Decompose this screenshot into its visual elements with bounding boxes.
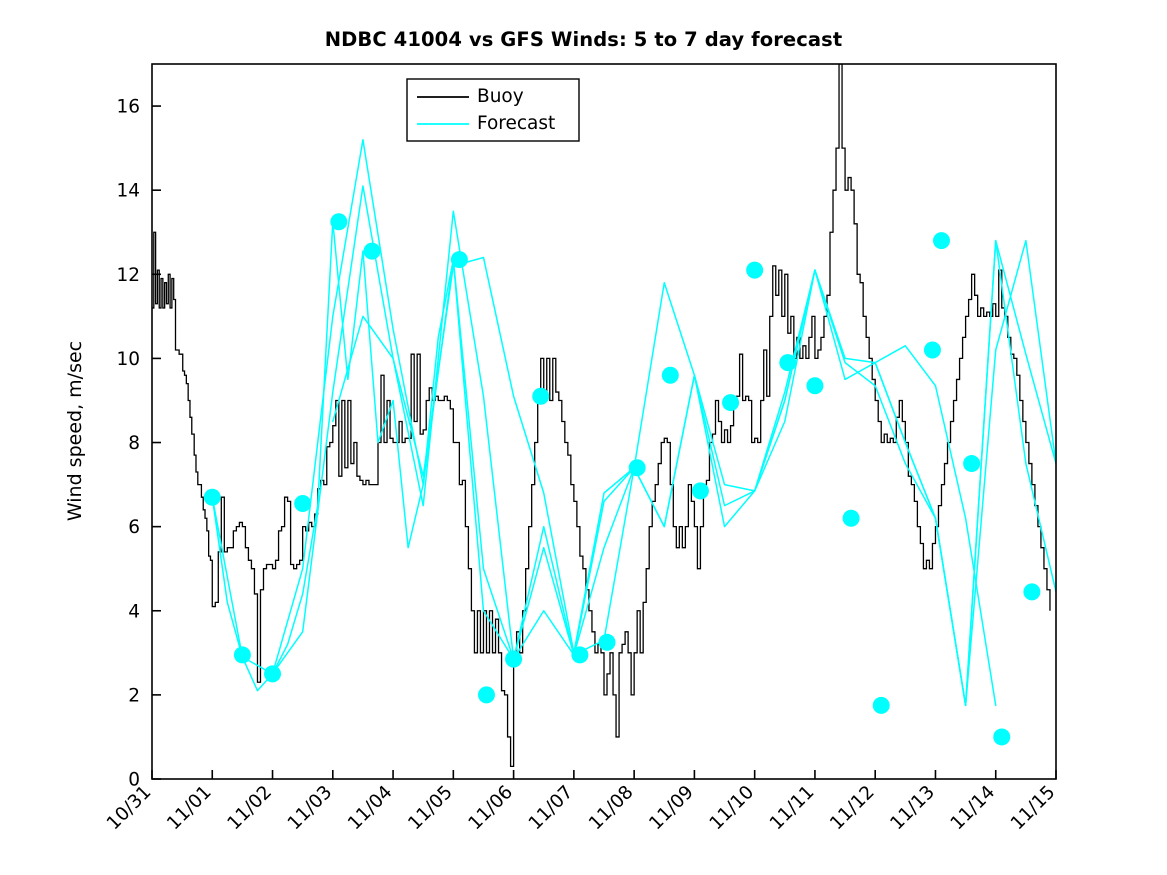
forecast-marker-point (451, 251, 468, 268)
forecast-marker-point (1023, 583, 1040, 600)
forecast-marker-point (873, 697, 890, 714)
forecast-marker-point (571, 646, 588, 663)
x-axis-tick-label: 11/09 (645, 782, 698, 835)
forecast-marker-point (662, 367, 679, 384)
series-line-buoy (152, 64, 1050, 766)
forecast-marker-point (924, 342, 941, 359)
forecast-marker-point (963, 455, 980, 472)
series-line-forecast-7 (694, 270, 995, 705)
x-axis-tick-label: 11/07 (525, 782, 578, 835)
x-axis-tick-label: 11/06 (465, 782, 518, 835)
y-axis-tick-label: 2 (128, 685, 140, 706)
forecast-marker-point (294, 495, 311, 512)
forecast-marker-point (629, 459, 646, 476)
forecast-marker-point (505, 651, 522, 668)
x-axis-tick-label: 11/11 (766, 782, 819, 835)
x-axis-tick-label: 11/15 (1007, 782, 1060, 835)
y-axis-tick-label: 4 (128, 601, 140, 622)
forecast-marker-point (330, 213, 347, 230)
y-axis-tick-label: 6 (128, 517, 140, 538)
forecast-marker-point (993, 728, 1010, 745)
y-axis-tick-label: 14 (116, 181, 140, 202)
series-line-forecast-5 (453, 260, 815, 660)
forecast-marker-point (746, 262, 763, 279)
x-axis-tick-label: 11/02 (224, 782, 277, 835)
legend-label-forecast: Forecast (477, 113, 555, 134)
forecast-marker-point (692, 482, 709, 499)
legend: BuoyForecast (407, 79, 579, 141)
forecast-marker-point (478, 686, 495, 703)
x-axis-tick-label: 11/04 (344, 782, 397, 835)
forecast-marker-point (806, 377, 823, 394)
plot-canvas: 024681012141610/3111/0111/0211/0311/0411… (0, 0, 1167, 875)
y-axis-tick-label: 12 (116, 265, 140, 286)
forecast-marker-point (363, 243, 380, 260)
forecast-marker-point (843, 510, 860, 527)
y-axis-tick-label: 8 (128, 433, 140, 454)
y-axis: 0246810121416 (116, 97, 161, 791)
forecast-marker-point (779, 354, 796, 371)
x-axis-tick-label: 11/05 (404, 782, 457, 835)
y-axis-tick-label: 10 (116, 349, 140, 370)
forecast-marker-point (722, 394, 739, 411)
forecast-marker-point (599, 634, 616, 651)
x-axis-tick-label: 11/01 (163, 782, 216, 835)
x-axis-tick-label: 11/10 (706, 782, 759, 835)
legend-label-buoy: Buoy (477, 86, 524, 107)
y-axis-tick-label: 16 (116, 97, 140, 118)
forecast-marker-point (532, 388, 549, 405)
series-line-forecast-9 (875, 241, 1056, 706)
forecast-marker-point (234, 646, 251, 663)
data-layer (152, 64, 1056, 766)
x-axis-tick-label: 11/08 (585, 782, 638, 835)
x-axis-tick-label: 11/12 (826, 782, 879, 835)
x-axis-tick-label: 11/03 (284, 782, 337, 835)
x-axis-tick-label: 11/14 (947, 782, 1000, 835)
series-line-forecast-6 (574, 270, 936, 655)
chart-figure: NDBC 41004 vs GFS Winds: 5 to 7 day fore… (0, 0, 1167, 875)
forecast-marker-point (264, 665, 281, 682)
series-line-forecast-4 (333, 257, 695, 652)
series-line-forecast-8 (755, 241, 1056, 706)
forecast-marker-point (204, 489, 221, 506)
forecast-marker-point (933, 232, 950, 249)
x-axis-tick-label: 11/13 (886, 782, 939, 835)
